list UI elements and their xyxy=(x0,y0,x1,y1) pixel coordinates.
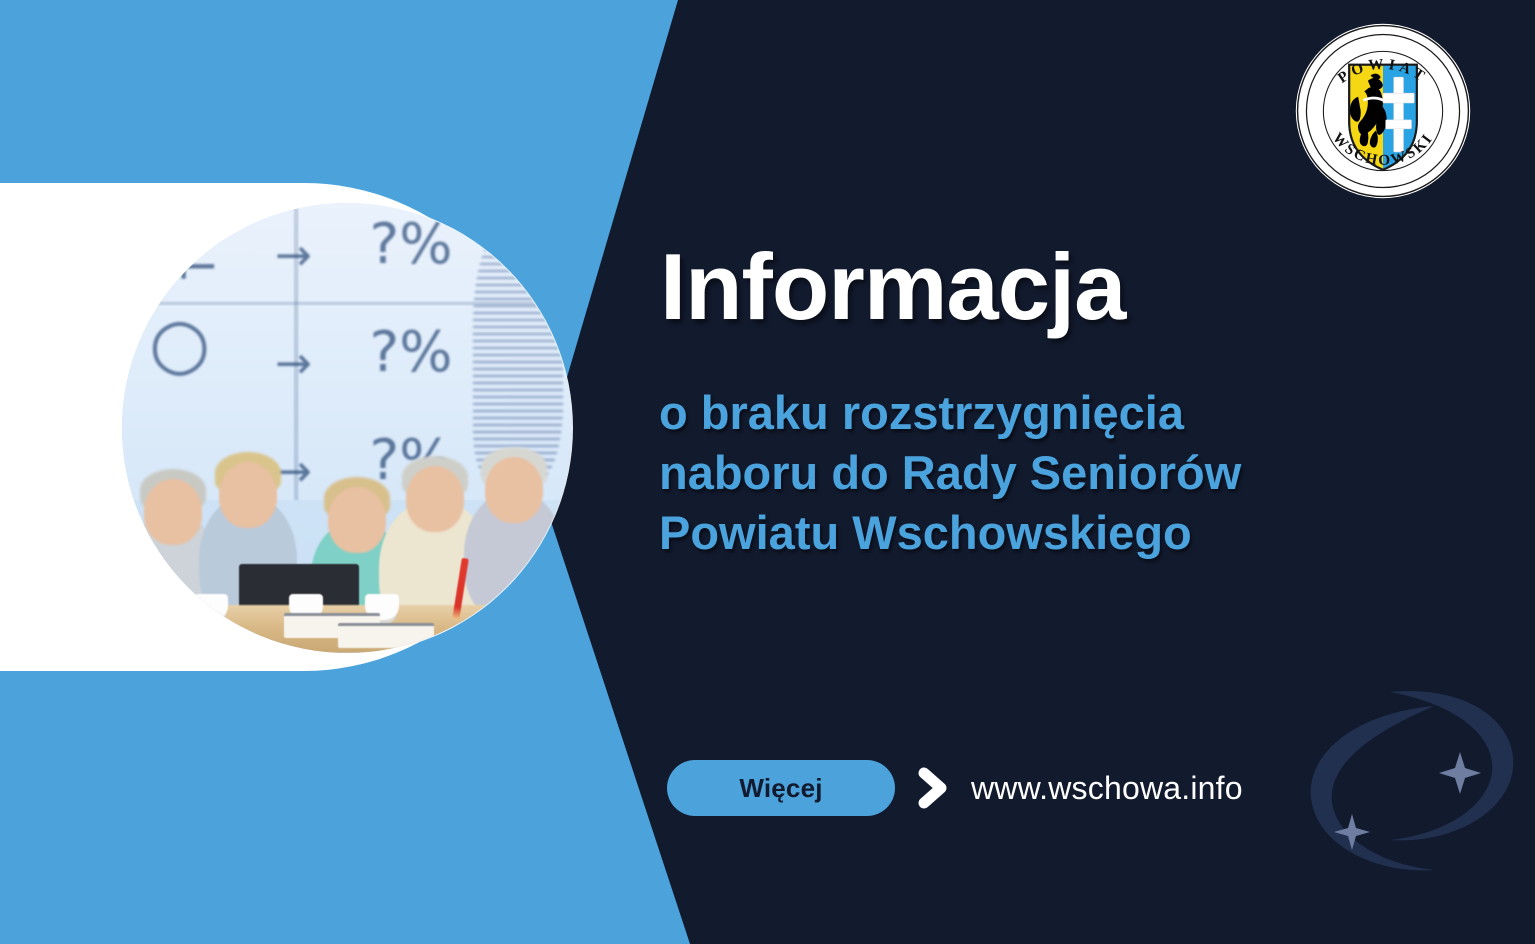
page-subtitle: o braku rozstrzygnięcia naboru do Rady S… xyxy=(659,383,1449,563)
chevron-right-icon xyxy=(917,767,949,809)
coffee-cup xyxy=(194,594,228,620)
board-symbol: ⌐ xyxy=(176,239,220,299)
subtitle-line: naboru do Rady Seniorów xyxy=(659,443,1449,503)
person xyxy=(464,491,564,623)
board-symbol: ○ xyxy=(149,302,210,384)
banner-graphic: → ?% → ?% → ?% ○ ⌐ xyxy=(0,0,1535,944)
website-url[interactable]: www.wschowa.info xyxy=(971,770,1243,807)
board-symbol: → xyxy=(275,338,312,389)
subtitle-line: o braku rozstrzygnięcia xyxy=(659,383,1449,443)
powiat-wschowski-coat-of-arms: POWIAT WSCHOWSKI xyxy=(1294,22,1472,200)
subtitle-line: Powiatu Wschowskiego xyxy=(659,503,1449,563)
board-symbol: → xyxy=(275,230,312,281)
cta-row: Więcej www.wschowa.info xyxy=(667,760,1243,816)
board-symbol: ?% xyxy=(370,212,453,277)
notepad xyxy=(338,623,434,648)
people-group xyxy=(122,401,572,653)
seniors-meeting-photo: → ?% → ?% → ?% ○ ⌐ xyxy=(122,203,572,653)
page-title: Informacja xyxy=(660,237,1125,337)
board-symbol: ?% xyxy=(370,320,453,385)
more-button[interactable]: Więcej xyxy=(667,760,895,816)
